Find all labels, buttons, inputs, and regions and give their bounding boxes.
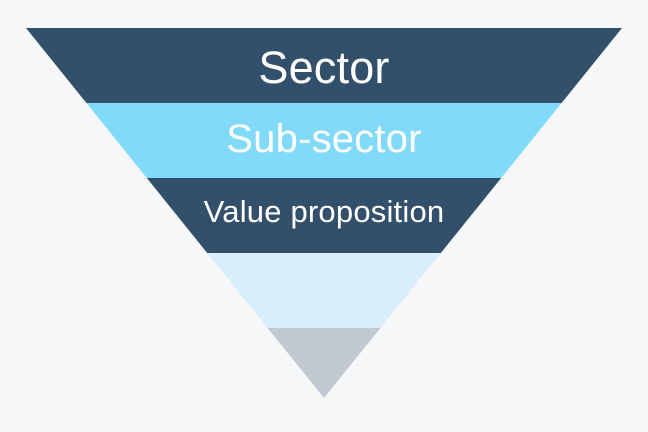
funnel-band-4[interactable] (207, 253, 441, 328)
funnel-diagram: Sector Sub-sector Value proposition (0, 0, 648, 432)
funnel-label-sector: Sector (0, 45, 648, 90)
funnel-band-5[interactable] (268, 328, 381, 398)
funnel-label-value-proposition: Value proposition (0, 196, 648, 227)
funnel-label-sub-sector: Sub-sector (0, 119, 648, 159)
